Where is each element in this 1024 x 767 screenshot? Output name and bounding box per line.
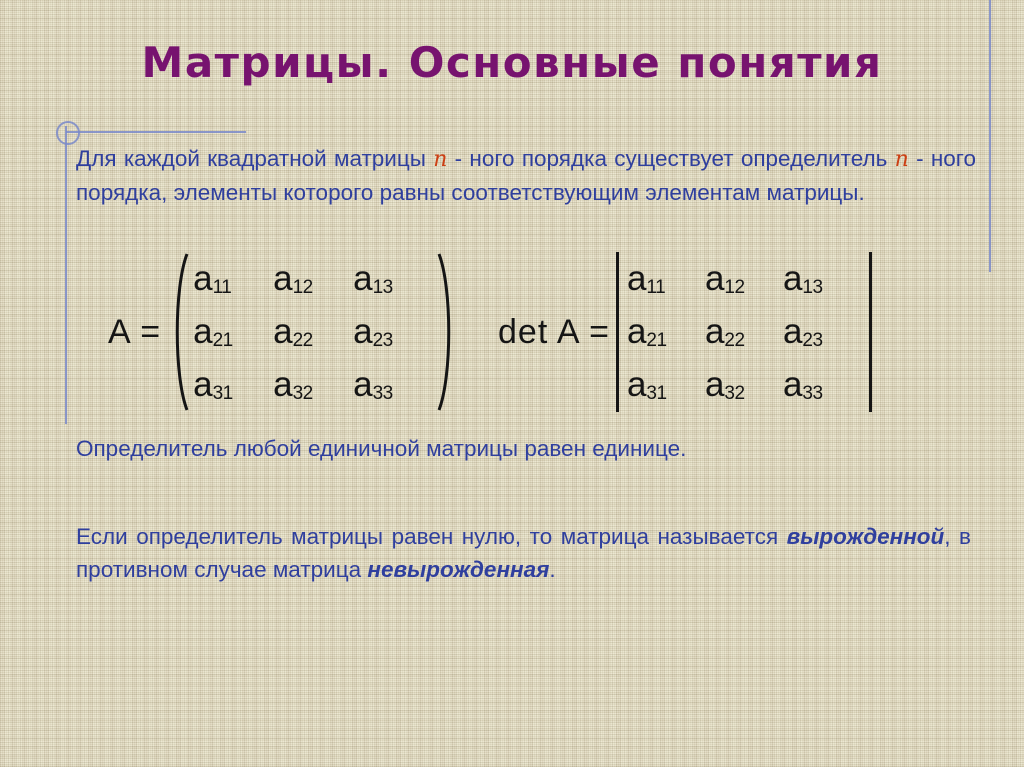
- intro-segment-2: - ного порядка существует определитель: [447, 146, 894, 171]
- formula-determinant-a: det A = a11 a12 a13 a21 a22 a23 a31 a32 …: [498, 252, 872, 412]
- determinant-lead-label: det A =: [498, 313, 616, 352]
- matrix-a-grid: a11 a12 a13 a21 a22 a23 a31 a32 a33: [189, 252, 437, 412]
- left-parenthesis-icon: [167, 252, 189, 412]
- formula-row: A = a11 a12 a13 a21 a22 a23 a31 a32 a33: [0, 252, 1024, 427]
- term-nonsingular: невырожденная: [367, 557, 549, 582]
- determinant-cell: a22: [705, 314, 745, 350]
- paragraph-identity: Определитель любой единичной матрицы рав…: [76, 432, 976, 465]
- determinant-cell: a21: [627, 314, 667, 350]
- determinant-cell: a12: [705, 261, 745, 297]
- matrix-cell: a32: [273, 367, 313, 403]
- term-singular: вырожденной: [787, 524, 945, 549]
- intro-segment-1: Для каждой квадратной матрицы: [76, 146, 433, 171]
- determinant-cell: a13: [783, 261, 823, 297]
- slide-title: Матрицы. Основные понятия: [0, 38, 1024, 87]
- determinant-cell: a11: [627, 261, 665, 297]
- matrix-cell: a13: [353, 261, 393, 297]
- singular-segment-1: Если определитель матрицы равен нулю, то…: [76, 524, 787, 549]
- right-vertical-bar-icon: [869, 252, 872, 412]
- matrix-cell: a31: [193, 367, 233, 403]
- matrix-a-lead-label: A =: [108, 313, 167, 352]
- singular-segment-3: .: [549, 557, 555, 582]
- determinant-grid: a11 a12 a13 a21 a22 a23 a31 a32 a33: [619, 252, 869, 412]
- intro-variable-n-first: n: [433, 147, 447, 172]
- determinant-cell: a23: [783, 314, 823, 350]
- determinant-cell: a32: [705, 367, 745, 403]
- matrix-cell: a33: [353, 367, 393, 403]
- matrix-cell: a12: [273, 261, 313, 297]
- paragraph-intro: Для каждой квадратной матрицы n - ного п…: [76, 142, 976, 209]
- slide-canvas: Матрицы. Основные понятия Для каждой ква…: [0, 0, 1024, 767]
- paragraph-singular: Если определитель матрицы равен нулю, то…: [76, 520, 971, 586]
- matrix-a-brackets: a11 a12 a13 a21 a22 a23 a31 a32 a33: [167, 252, 459, 412]
- decorative-horizontal-line: [66, 131, 246, 133]
- matrix-cell: a23: [353, 314, 393, 350]
- matrix-cell: a21: [193, 314, 233, 350]
- matrix-cell: a22: [273, 314, 313, 350]
- determinant-cell: a33: [783, 367, 823, 403]
- right-parenthesis-icon: [437, 252, 459, 412]
- formula-matrix-a: A = a11 a12 a13 a21 a22 a23 a31 a32 a33: [108, 252, 459, 412]
- matrix-cell: a11: [193, 261, 231, 297]
- intro-variable-n-second: n: [895, 147, 909, 172]
- determinant-cell: a31: [627, 367, 667, 403]
- determinant-bars: a11 a12 a13 a21 a22 a23 a31 a32 a33: [616, 252, 872, 412]
